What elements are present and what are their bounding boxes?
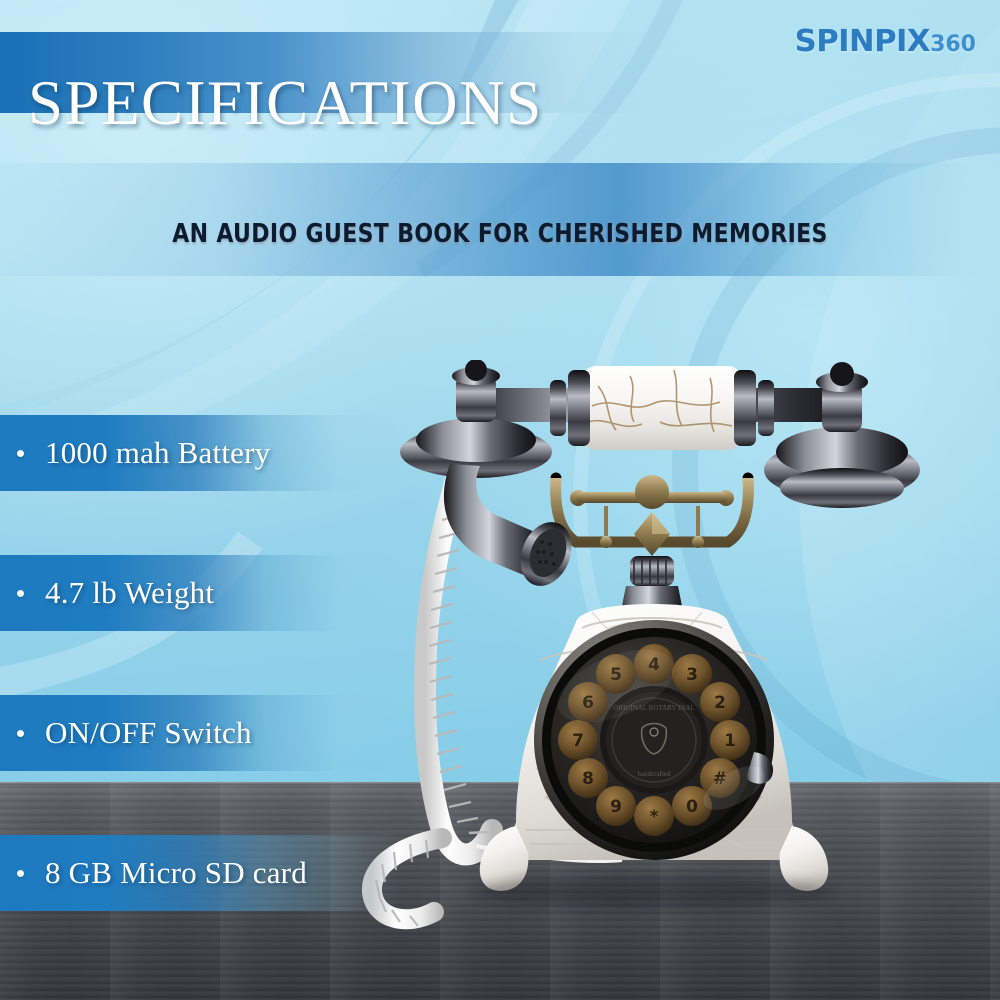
svg-text:7: 7 <box>572 731 584 751</box>
svg-text:8: 8 <box>582 769 594 789</box>
handset-yoke <box>556 475 749 556</box>
svg-text:handcrafted: handcrafted <box>637 770 671 778</box>
svg-text:0: 0 <box>686 797 698 817</box>
logo-suffix: 360 <box>930 32 976 57</box>
svg-text:9: 9 <box>610 797 622 817</box>
svg-text:2: 2 <box>714 693 726 713</box>
bullet-dot-icon <box>17 450 24 457</box>
specifications-infographic: 1 2 3 4 5 6 7 8 9 * 0 # <box>0 0 1000 1000</box>
brand-logo: SPINPIX 360 <box>796 24 976 59</box>
spec-label: 4.7 lb Weight <box>45 575 214 611</box>
rotary-dial: 1 2 3 4 5 6 7 8 9 * 0 # <box>534 620 774 860</box>
logo-wordmark: SPINPIX <box>795 24 930 59</box>
spec-item: 8 GB Micro SD card <box>0 835 402 911</box>
svg-text:1: 1 <box>724 731 736 751</box>
bullet-dot-icon <box>17 870 24 877</box>
subtitle-text: AN AUDIO GUEST BOOK FOR CHERISHED MEMORI… <box>30 219 970 249</box>
svg-text:3: 3 <box>686 665 698 685</box>
spec-label: 8 GB Micro SD card <box>45 855 307 891</box>
spec-label: ON/OFF Switch <box>45 715 252 751</box>
bullet-dot-icon <box>17 590 24 597</box>
bullet-dot-icon <box>17 730 24 737</box>
spec-item: 4.7 lb Weight <box>0 555 402 631</box>
spec-label: 1000 mah Battery <box>45 435 270 471</box>
svg-text:*: * <box>650 807 659 827</box>
spec-item: ON/OFF Switch <box>0 695 402 771</box>
spec-item: 1000 mah Battery <box>0 415 402 491</box>
product-image-vintage-telephone: 1 2 3 4 5 6 7 8 9 * 0 # <box>330 360 1000 940</box>
page-title: SPECIFICATIONS <box>28 72 543 135</box>
